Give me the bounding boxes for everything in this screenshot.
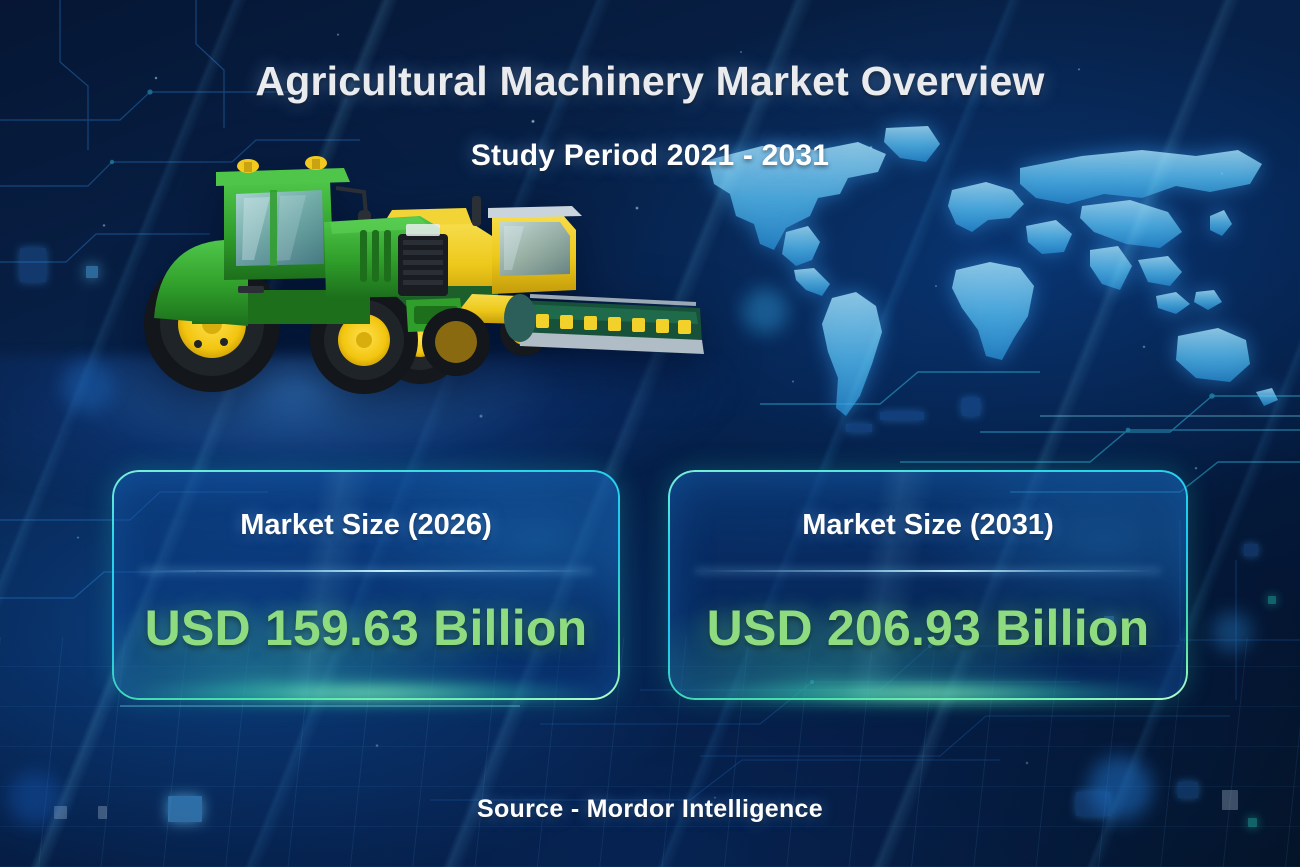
card-sheen <box>670 472 1186 698</box>
card-label: Market Size (2031) <box>670 509 1186 542</box>
study-period-subtitle: Study Period 2021 - 2031 <box>0 139 1300 173</box>
stat-card-market-size-2031[interactable]: Market Size (2031) USD 206.93 Billion <box>668 470 1188 700</box>
card-background <box>114 472 618 698</box>
farm-tractor <box>144 156 490 394</box>
source-attribution: Source - Mordor Intelligence <box>0 795 1300 824</box>
card-sheen <box>114 472 618 698</box>
card-value: USD 206.93 Billion <box>670 599 1186 657</box>
stat-card-market-size-2026[interactable]: Market Size (2026) USD 159.63 Billion <box>112 470 620 700</box>
card-divider <box>140 570 592 572</box>
card-divider <box>696 570 1160 572</box>
card-background <box>670 472 1186 698</box>
card-label: Market Size (2026) <box>114 509 618 542</box>
card-value: USD 159.63 Billion <box>114 599 618 657</box>
page-title: Agricultural Machinery Market Overview <box>0 58 1300 105</box>
infographic-canvas: Agricultural Machinery Market Overview S… <box>0 0 1300 867</box>
stat-card-group: Market Size (2026) USD 159.63 Billion Ma… <box>0 470 1300 715</box>
